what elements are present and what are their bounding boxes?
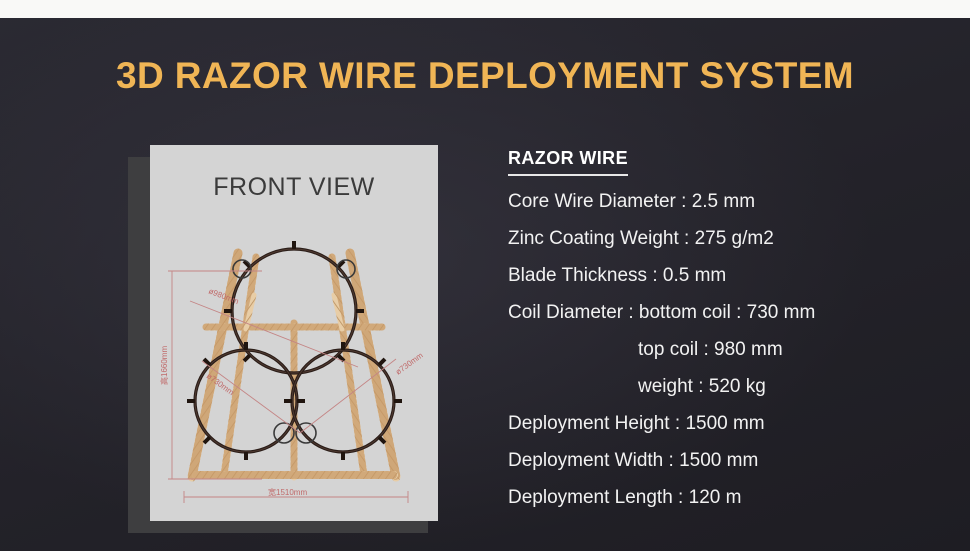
dim-label-width: 宽1510mm [268,487,307,497]
spec-value: 520 kg [709,376,766,397]
spec-row: top coil : 980 mm [508,339,928,361]
dim-label-height: 高1660mm [159,346,169,385]
spec-row: Deployment Length : 120 m [508,487,928,509]
spec-row: Coil Diameter : bottom coil : 730 mm [508,302,928,324]
spec-value: 1500 mm [679,450,758,471]
spec-row: weight : 520 kg [508,376,928,398]
drawing-panel: FRONT VIEW [128,145,438,533]
spec-value: 1500 mm [685,413,764,434]
spec-value: 120 m [689,487,742,508]
top-white-strip [0,0,970,18]
spec-label: Core Wire Diameter : [508,191,686,212]
spec-label: weight : [638,376,703,397]
spec-label: Deployment Height : [508,413,680,434]
spec-value: 275 g/m2 [695,228,774,249]
spec-label: Blade Thickness : [508,265,658,286]
specifications-block: RAZOR WIRE Core Wire Diameter : 2.5 mm Z… [508,148,928,509]
spec-label: Coil Diameter : bottom coil : [508,302,741,323]
spec-value: 980 mm [714,339,783,360]
spec-row: Zinc Coating Weight : 275 g/m2 [508,228,928,250]
drawing-panel-face: FRONT VIEW [150,145,438,521]
dimension-lines [168,271,408,503]
specs-heading: RAZOR WIRE [508,148,628,176]
spec-label: Zinc Coating Weight : [508,228,689,249]
spec-row: Deployment Height : 1500 mm [508,413,928,435]
spec-value: 2.5 mm [692,191,755,212]
spec-label: top coil : [638,339,709,360]
spec-value: 0.5 mm [663,265,726,286]
dim-label-right-coil: ø730mm [394,351,425,377]
slide-root: 3D RAZOR WIRE DEPLOYMENT SYSTEM FRONT VI… [0,0,970,551]
spec-label: Deployment Width : [508,450,674,471]
page-title: 3D RAZOR WIRE DEPLOYMENT SYSTEM [0,55,970,97]
front-view-cad-drawing: ø980mm ø730mm ø730mm 高1660mm 宽1510mm [150,145,438,521]
support-frame [192,253,396,477]
spec-label: Deployment Length : [508,487,683,508]
spec-value: 730 mm [747,302,816,323]
spec-row: Core Wire Diameter : 2.5 mm [508,191,928,213]
spec-row: Deployment Width : 1500 mm [508,450,928,472]
spec-row: Blade Thickness : 0.5 mm [508,265,928,287]
